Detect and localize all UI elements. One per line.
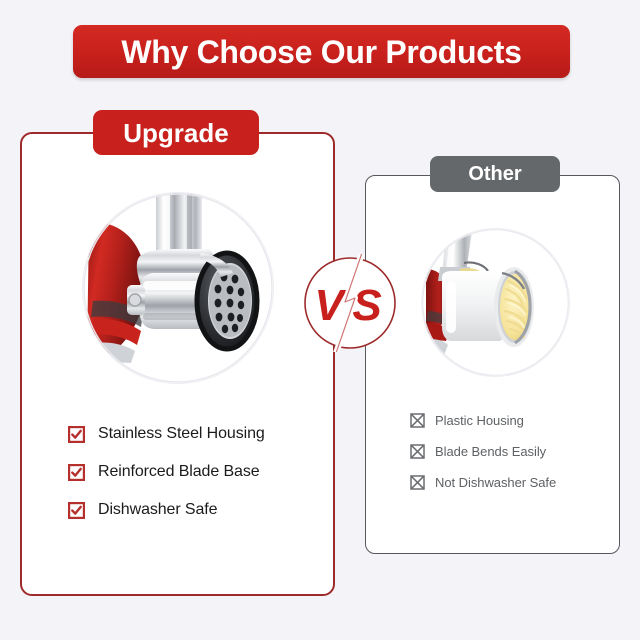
- other-feature-list: Plastic Housing Blade Bends Easily Not D…: [410, 413, 610, 490]
- title-banner: Why Choose Our Products: [73, 25, 570, 78]
- vs-letter-s: S: [352, 281, 381, 330]
- list-item-label: Reinforced Blade Base: [98, 463, 260, 481]
- checkbox-checked-icon: [68, 464, 85, 481]
- list-item-label: Stainless Steel Housing: [98, 425, 265, 443]
- infographic-canvas: Why Choose Our Products Upgrade Other: [0, 0, 640, 640]
- list-item: Reinforced Blade Base: [68, 463, 318, 481]
- other-product-image: [422, 229, 569, 376]
- checkbox-crossed-icon: [410, 444, 425, 459]
- other-badge: Other: [430, 156, 560, 192]
- vs-badge: V S: [301, 254, 399, 352]
- list-item: Stainless Steel Housing: [68, 425, 318, 443]
- vs-letter-v: V: [314, 281, 347, 330]
- other-badge-label: Other: [468, 164, 521, 184]
- checkbox-checked-icon: [68, 426, 85, 443]
- upgrade-feature-list: Stainless Steel Housing Reinforced Blade…: [68, 425, 318, 519]
- list-item-label: Not Dishwasher Safe: [435, 475, 556, 490]
- checkbox-checked-icon: [68, 502, 85, 519]
- checkbox-crossed-icon: [410, 475, 425, 490]
- page-title: Why Choose Our Products: [121, 36, 521, 68]
- list-item: Blade Bends Easily: [410, 444, 610, 459]
- list-item-label: Blade Bends Easily: [435, 444, 546, 459]
- list-item: Dishwasher Safe: [68, 501, 318, 519]
- checkbox-crossed-icon: [410, 413, 425, 428]
- upgrade-badge: Upgrade: [93, 110, 259, 155]
- upgrade-badge-label: Upgrade: [123, 120, 228, 146]
- list-item-label: Plastic Housing: [435, 413, 524, 428]
- upgrade-product-image: [83, 193, 273, 383]
- list-item: Plastic Housing: [410, 413, 610, 428]
- list-item-label: Dishwasher Safe: [98, 501, 217, 519]
- list-item: Not Dishwasher Safe: [410, 475, 610, 490]
